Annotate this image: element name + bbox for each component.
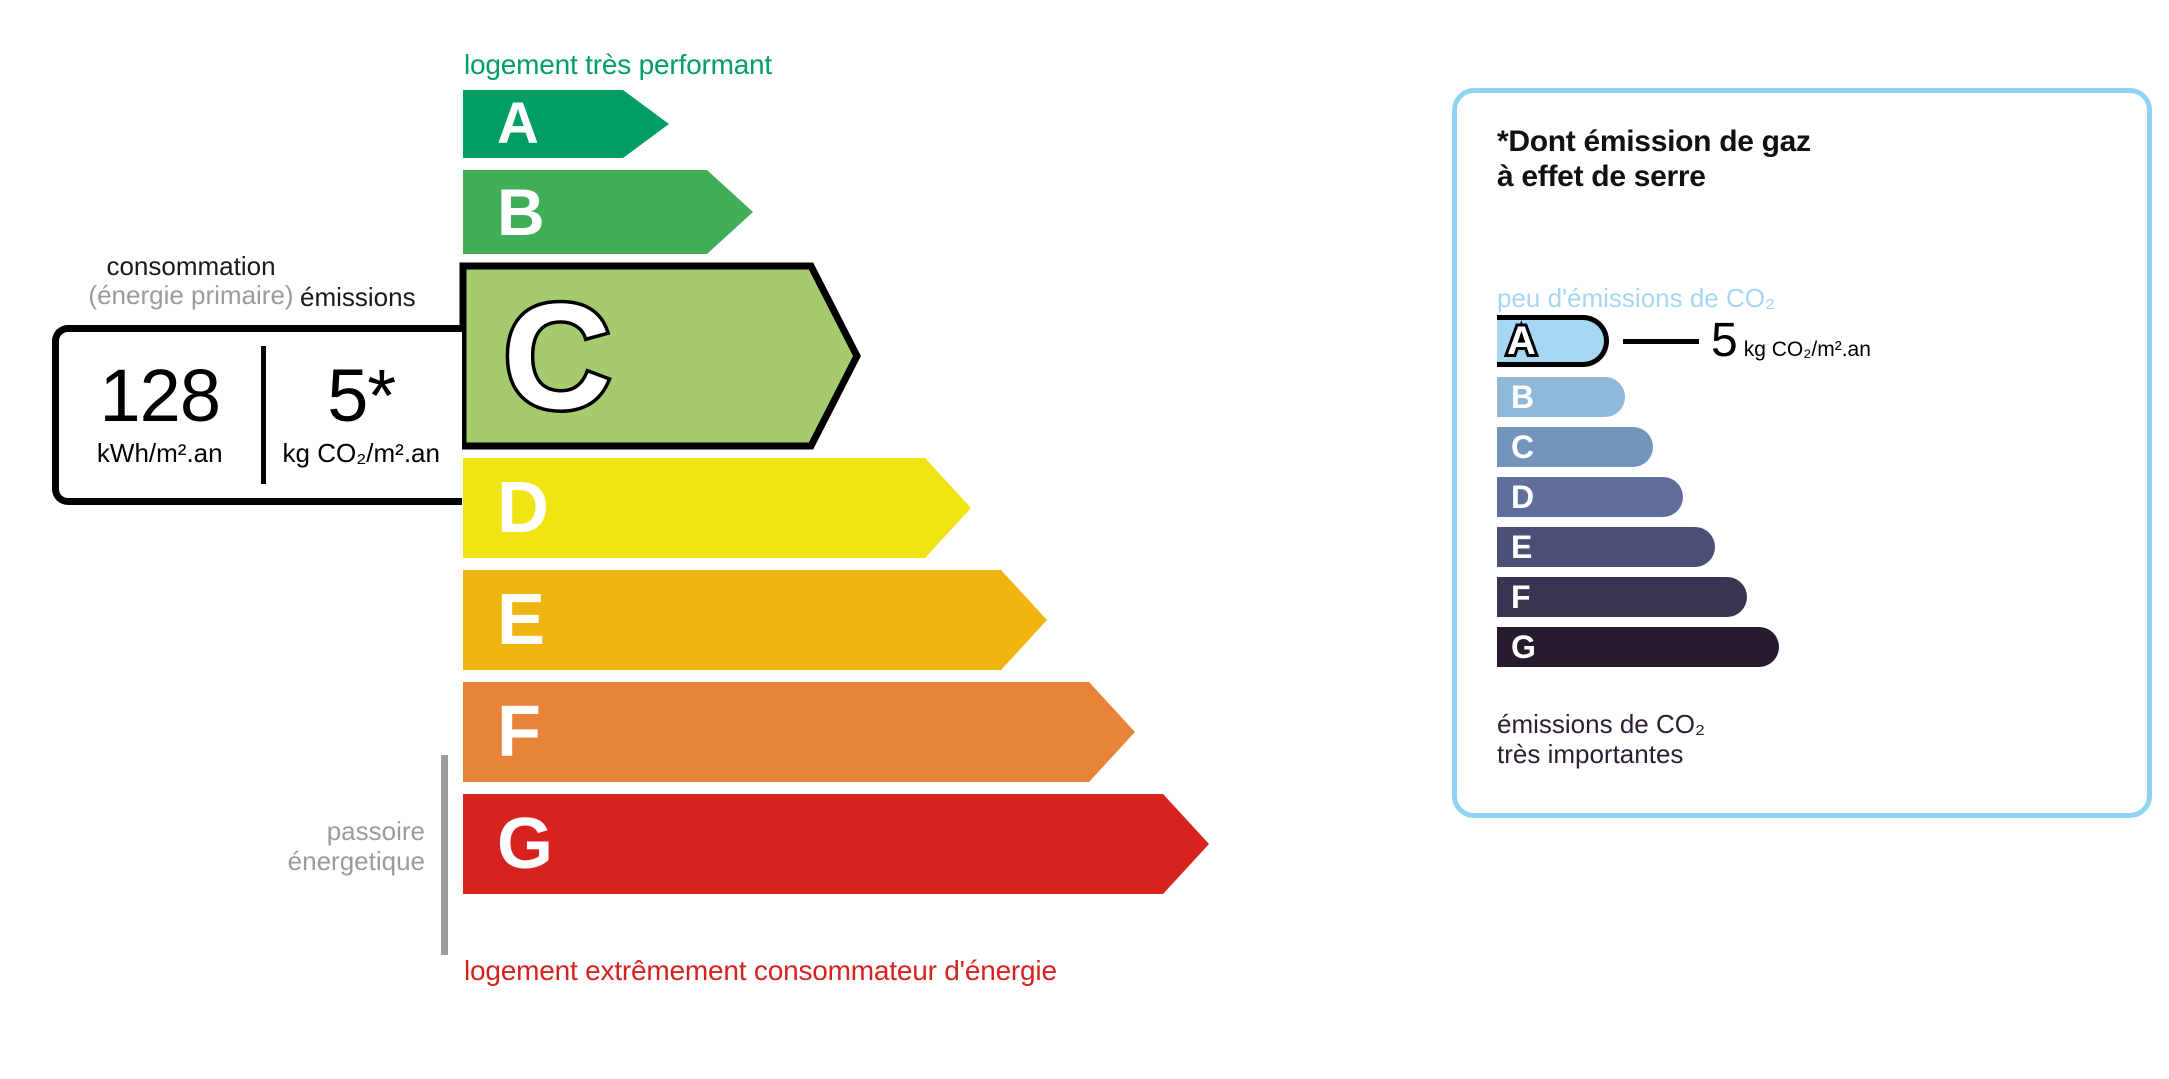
co2-bar-letter-e: E xyxy=(1511,531,1532,563)
passoire-marker-line xyxy=(441,755,448,955)
co2-bottom-caption: émissions de CO₂ très importantes xyxy=(1497,709,1705,769)
co2-bar-b: B xyxy=(1497,377,1625,417)
energy-bar-letter-d: D xyxy=(497,472,549,544)
passoire-label-line2: énergetique xyxy=(150,847,425,877)
co2-bar-letter-g: G xyxy=(1511,631,1536,663)
energy-bar-d: D xyxy=(463,458,971,558)
energy-bottom-caption: logement extrêmement consommateur d'éner… xyxy=(464,955,1057,987)
energy-bar-c: C xyxy=(463,266,857,446)
co2-panel-title: *Dont émission de gaz à effet de serre xyxy=(1497,125,1811,195)
emissions-value: 5* xyxy=(327,361,395,431)
energy-bar-shape-e xyxy=(463,570,1057,680)
energy-bar-letter-e: E xyxy=(497,584,545,656)
passoire-label: passoire énergetique xyxy=(150,817,425,877)
energy-bar-e: E xyxy=(463,570,1047,670)
co2-bar-f: F xyxy=(1497,577,1747,617)
energy-bar-b: B xyxy=(463,170,753,254)
energy-bar-letter-f: F xyxy=(497,696,541,768)
co2-bar-letter-a: A xyxy=(1507,321,1536,361)
co2-bar-g: G xyxy=(1497,627,1779,667)
energy-bar-f: F xyxy=(463,682,1135,782)
energy-top-caption: logement très performant xyxy=(464,49,772,81)
energy-bar-letter-b: B xyxy=(497,179,545,245)
consumption-value-cell: 128 kWh/m².an xyxy=(59,332,261,498)
co2-bar-a: A xyxy=(1497,315,1609,367)
consumption-value: 128 xyxy=(100,361,220,431)
co2-bar-letter-b: B xyxy=(1511,381,1534,413)
co2-bar-letter-f: F xyxy=(1511,581,1531,613)
energy-bar-shape-g xyxy=(463,794,1219,904)
co2-bar-e: E xyxy=(1497,527,1715,567)
energy-bar-shape-f xyxy=(463,682,1145,792)
emissions-unit: kg CO₂/m².an xyxy=(283,438,440,469)
energy-bar-g: G xyxy=(463,794,1209,894)
consumption-label: consommation xyxy=(106,251,275,281)
energy-bar-shape-a xyxy=(463,90,679,168)
passoire-label-line1: passoire xyxy=(150,817,425,847)
energy-bar-a: A xyxy=(463,90,669,158)
value-box: 128 kWh/m².an 5* kg CO₂/m².an xyxy=(52,325,462,505)
co2-value-unit: kg CO₂/m².an xyxy=(1744,338,1871,361)
co2-selected-value: 5kg CO₂/m².an xyxy=(1711,317,1871,365)
co2-top-caption: peu d'émissions de CO₂ xyxy=(1497,283,1775,314)
consumption-sublabel: (énergie primaire) xyxy=(66,281,316,310)
energy-bar-letter-g: G xyxy=(497,808,553,880)
energy-bar-letter-c: C xyxy=(503,281,611,431)
co2-bar-c: C xyxy=(1497,427,1653,467)
consumption-unit: kWh/m².an xyxy=(97,438,223,469)
co2-bar-d: D xyxy=(1497,477,1683,517)
emissions-value-cell: 5* kg CO₂/m².an xyxy=(261,332,463,498)
co2-bar-letter-c: C xyxy=(1511,431,1534,463)
emissions-header-label: émissions xyxy=(300,282,416,313)
co2-leader-line xyxy=(1623,339,1699,344)
co2-bar-letter-d: D xyxy=(1511,481,1534,513)
consumption-header: consommation (énergie primaire) xyxy=(66,252,316,310)
co2-panel: *Dont émission de gaz à effet de serre p… xyxy=(1452,88,2152,818)
co2-value-number: 5 xyxy=(1711,314,1738,367)
energy-bar-letter-a: A xyxy=(497,95,539,153)
